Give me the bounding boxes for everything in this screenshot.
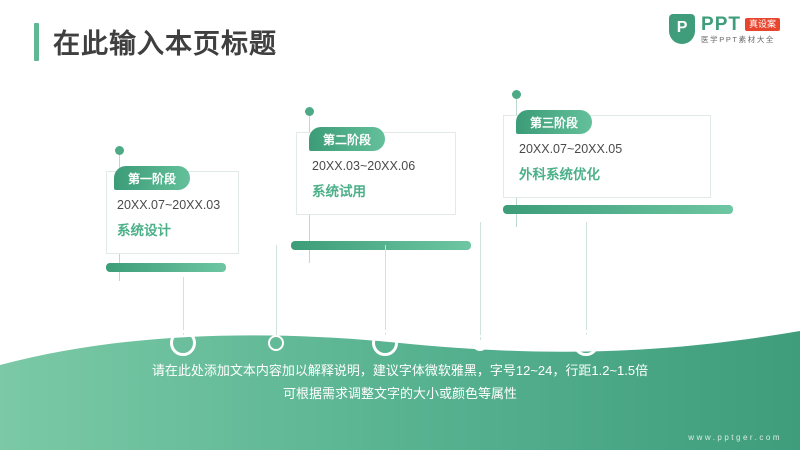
- stage-name-2: 系统试用: [312, 180, 366, 200]
- shield-icon: P: [669, 14, 695, 44]
- stage-date-3: 20XX.07~20XX.05: [519, 142, 622, 156]
- logo-name: PPT: [701, 15, 741, 34]
- shield-letter: P: [669, 14, 695, 44]
- stage-label-1: 第一阶段: [114, 166, 190, 190]
- logo-row-primary: PPT 真设案: [701, 15, 780, 34]
- footer-url: www.pptger.com: [688, 433, 782, 442]
- brand-logo: P PPT 真设案 医学PPT素材大全: [669, 12, 780, 46]
- stage-dot-1: [115, 146, 124, 155]
- page-title: 在此输入本页标题: [53, 22, 277, 61]
- logo-subtitle: 医学PPT素材大全: [701, 36, 780, 44]
- timeline-marker-3: [372, 330, 398, 356]
- stage-date-2: 20XX.03~20XX.06: [312, 159, 415, 173]
- page-title-bar: 在此输入本页标题: [34, 22, 277, 61]
- stage-bar-3: [503, 205, 733, 214]
- timeline-marker-5: [573, 330, 599, 356]
- band-description-line-2: 可根据需求调整文字的大小或颜色等属性: [0, 382, 800, 405]
- logo-text: PPT 真设案 医学PPT素材大全: [701, 15, 780, 44]
- stage-date-1: 20XX.07~20XX.03: [117, 198, 220, 212]
- stage-name-1: 系统设计: [117, 219, 171, 239]
- logo-badge: 真设案: [745, 18, 780, 31]
- stage-dot-3: [512, 90, 521, 99]
- timeline-marker-4: [472, 335, 488, 351]
- title-accent-bar: [34, 23, 39, 61]
- bottom-band: 请在此处添加文本内容加以解释说明，建议字体微软雅黑，字号12~24，行距1.2~…: [0, 325, 800, 450]
- stage-bar-1: [106, 263, 226, 272]
- drop-line-5: [586, 222, 587, 335]
- stage-label-3: 第三阶段: [516, 110, 592, 134]
- timeline-marker-1: [170, 330, 196, 356]
- stage-name-3: 外科系统优化: [519, 163, 600, 183]
- drop-line-3: [385, 245, 386, 335]
- timeline-marker-2: [268, 335, 284, 351]
- band-description-line-1: 请在此处添加文本内容加以解释说明，建议字体微软雅黑，字号12~24，行距1.2~…: [0, 359, 800, 382]
- stage-dot-2: [305, 107, 314, 116]
- drop-line-4: [480, 222, 481, 340]
- stage-label-2: 第二阶段: [309, 127, 385, 151]
- stage-bar-2: [291, 241, 471, 250]
